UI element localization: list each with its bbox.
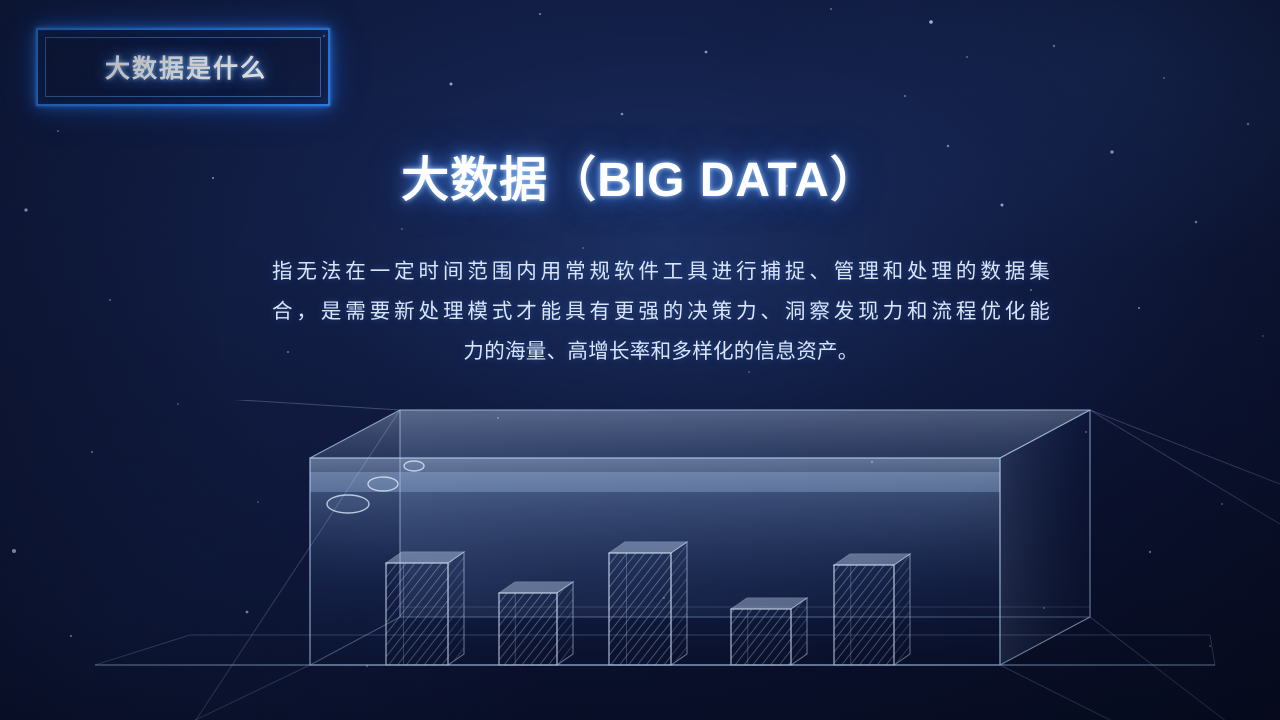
section-title-badge[interactable]: 大数据是什么 <box>36 28 330 106</box>
ground-edge-right <box>1210 635 1215 665</box>
ground-edge-left <box>95 635 190 665</box>
star-dot <box>1247 123 1249 125</box>
star-dot <box>904 95 906 97</box>
chart-bar-3 <box>609 542 687 665</box>
bar-front-face <box>386 563 448 665</box>
chart-bar-2 <box>499 582 573 665</box>
bar-front-face <box>731 609 791 665</box>
perspective-ray-4 <box>1090 410 1280 524</box>
chart-bar-1 <box>386 552 464 665</box>
slide-canvas: 大数据是什么 大数据（BIG DATA） 指无法在一定时间范围内用常规软件工具进… <box>0 0 1280 720</box>
bar-side-face <box>557 582 573 665</box>
star-dot <box>401 228 403 230</box>
bar-side-face <box>791 598 807 665</box>
star-dot <box>1053 45 1055 47</box>
perspective-ray-5 <box>1090 617 1278 720</box>
bar-side-face <box>671 542 687 665</box>
page-title: 大数据（BIG DATA） <box>0 140 1280 210</box>
box-highlight-band <box>310 472 1000 492</box>
bar-side-face <box>448 552 464 665</box>
star-dot <box>1163 77 1165 79</box>
bubble-2 <box>368 477 398 491</box>
section-title-label: 大数据是什么 <box>99 49 267 85</box>
star-dot <box>621 113 624 116</box>
bar-front-face <box>499 593 557 665</box>
glass-box-bar-chart-illustration <box>0 400 1280 720</box>
paragraph-line-1: 指无法在一定时间范围内用常规软件工具进行捕捉、管理和处理的数据集 <box>272 252 1050 292</box>
perspective-ray-6 <box>1000 665 1280 720</box>
perspective-ray-7 <box>60 665 310 720</box>
star-dot <box>450 83 453 86</box>
bubble-1 <box>404 461 424 471</box>
box-top-face <box>310 410 1090 458</box>
star-dot <box>1262 335 1264 337</box>
chart-bar-5 <box>834 554 910 665</box>
star-dot <box>582 247 584 249</box>
perspective-ray-1 <box>50 400 400 410</box>
bar-front-face <box>834 565 894 665</box>
star-dot <box>1138 307 1140 309</box>
bar-front-face <box>609 553 671 665</box>
star-dot <box>929 20 933 24</box>
bubble-3 <box>327 495 369 513</box>
star-dot <box>109 299 111 301</box>
star-dot <box>1195 221 1198 224</box>
bar-side-face <box>894 554 910 665</box>
star-dot <box>966 56 968 58</box>
star-dot <box>830 8 832 10</box>
paragraph-line-3: 力的海量、高增长率和多样化的信息资产。 <box>272 332 1050 372</box>
star-dot <box>539 13 541 15</box>
paragraph-line-2: 合，是需要新处理模式才能具有更强的决策力、洞察发现力和流程优化能 <box>272 292 1050 332</box>
star-dot <box>57 130 59 132</box>
description-paragraph: 指无法在一定时间范围内用常规软件工具进行捕捉、管理和处理的数据集 合，是需要新处… <box>272 252 1050 372</box>
perspective-ray-3 <box>1090 410 1280 484</box>
chart-bar-4 <box>731 598 807 665</box>
star-dot <box>705 51 708 54</box>
